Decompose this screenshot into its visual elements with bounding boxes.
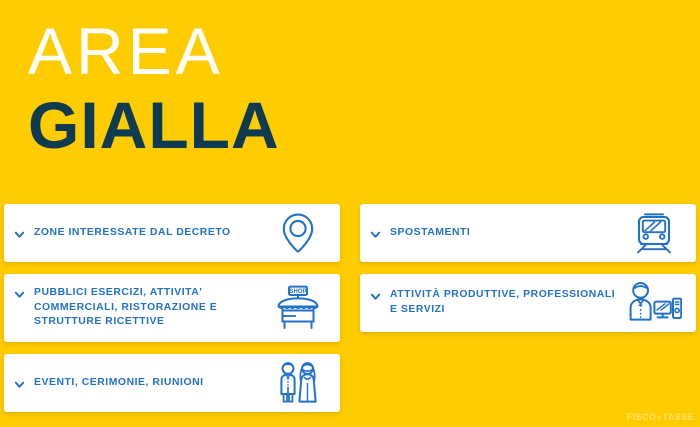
train-icon bbox=[626, 210, 682, 256]
accordion-card-label: ATTIVITÀ PRODUTTIVE, PROFESSIONALI E SER… bbox=[390, 288, 618, 318]
accordion-card-attivita-produttive[interactable]: ATTIVITÀ PRODUTTIVE, PROFESSIONALI E SER… bbox=[360, 274, 696, 332]
accordion-card-grid: ZONE INTERESSATE DAL DECRETO bbox=[4, 204, 696, 412]
accordion-card-eventi-cerimonie[interactable]: EVENTI, CERIMONIE, RIUNIONI bbox=[4, 354, 340, 412]
accordion-card-pubblici-esercizi[interactable]: PUBBLICI ESERCIZI, ATTIVITA' COMMERCIALI… bbox=[4, 274, 340, 342]
watermark-part-1: FISCO bbox=[627, 412, 657, 422]
chevron-down-icon[interactable] bbox=[370, 229, 381, 240]
svg-text:SHOP: SHOP bbox=[289, 289, 306, 295]
card-header-left: PUBBLICI ESERCIZI, ATTIVITA' COMMERCIALI… bbox=[14, 286, 262, 330]
page-title: AREA GIALLA bbox=[28, 18, 280, 158]
shop-storefront-icon: SHOP bbox=[270, 285, 326, 331]
watermark-fisco-e-tasse: FISCOeTASSE bbox=[627, 412, 694, 422]
page-title-line-1: AREA bbox=[28, 18, 280, 84]
card-header-left: ATTIVITÀ PRODUTTIVE, PROFESSIONALI E SER… bbox=[370, 288, 618, 318]
chevron-down-icon[interactable] bbox=[14, 229, 25, 240]
right-column: SPOSTAMENTI bbox=[360, 204, 696, 332]
card-header-left: ZONE INTERESSATE DAL DECRETO bbox=[14, 226, 262, 241]
accordion-card-label: EVENTI, CERIMONIE, RIUNIONI bbox=[34, 376, 204, 391]
office-worker-computer-icon bbox=[626, 280, 682, 326]
card-header-left: SPOSTAMENTI bbox=[370, 226, 618, 241]
chevron-down-icon[interactable] bbox=[14, 379, 25, 390]
wedding-couple-icon bbox=[270, 360, 326, 406]
left-column: ZONE INTERESSATE DAL DECRETO bbox=[4, 204, 340, 412]
map-pin-icon bbox=[270, 210, 326, 256]
accordion-card-label: SPOSTAMENTI bbox=[390, 226, 470, 241]
accordion-card-label: ZONE INTERESSATE DAL DECRETO bbox=[34, 226, 231, 241]
page-title-line-2: GIALLA bbox=[28, 92, 280, 158]
accordion-card-spostamenti[interactable]: SPOSTAMENTI bbox=[360, 204, 696, 262]
watermark-part-3: TASSE bbox=[663, 412, 694, 422]
chevron-down-icon[interactable] bbox=[370, 291, 381, 302]
chevron-down-icon[interactable] bbox=[14, 289, 25, 300]
page-root: AREA GIALLA ZONE INTERESSATE DAL DECRETO bbox=[0, 0, 700, 427]
accordion-card-zone-interessate[interactable]: ZONE INTERESSATE DAL DECRETO bbox=[4, 204, 340, 262]
card-header-left: EVENTI, CERIMONIE, RIUNIONI bbox=[14, 376, 262, 391]
accordion-card-label: PUBBLICI ESERCIZI, ATTIVITA' COMMERCIALI… bbox=[34, 286, 262, 330]
